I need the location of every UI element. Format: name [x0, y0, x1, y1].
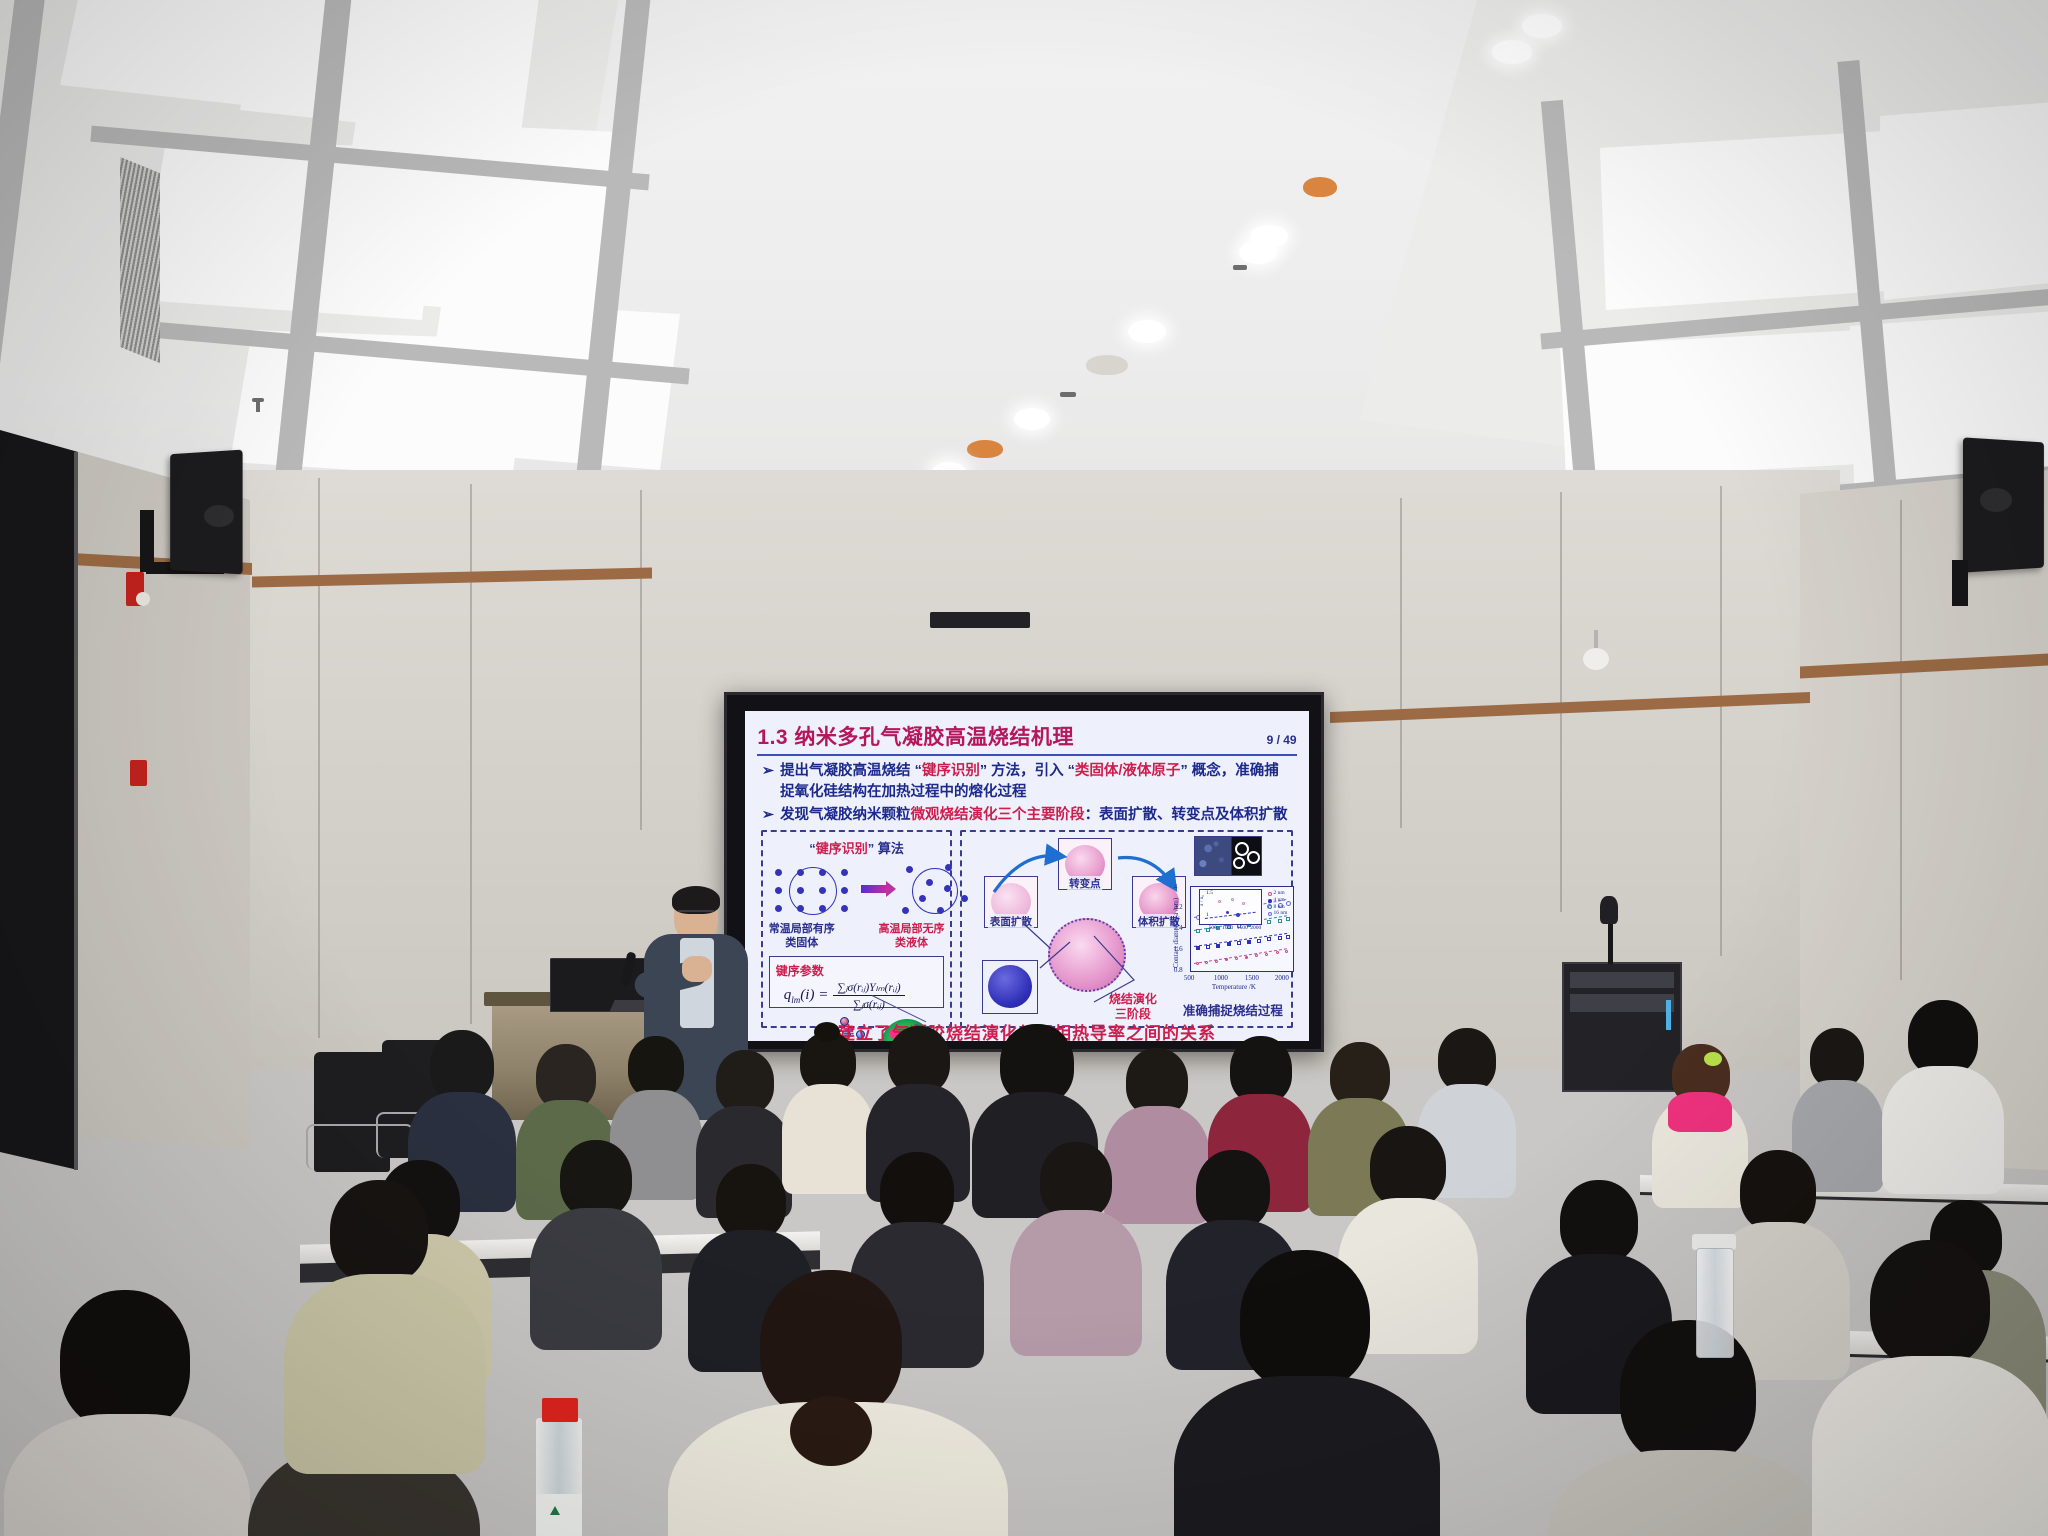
ceiling-light-panel: [420, 300, 680, 470]
inset-xtick: 1500: [1237, 925, 1248, 931]
bond-order-parameter-box: 键序参数 qlm(i) = ∑ⱼσ(rᵢⱼ)Yₗₘ(rᵢⱼ) ∑ⱼσ(rᵢⱼ): [769, 956, 945, 1008]
slide-page-indicator: 9 / 49: [1267, 733, 1297, 747]
wall-seam: [470, 484, 472, 1024]
bullet-arrow-icon: ➢: [762, 805, 774, 826]
legend-marker: [1268, 912, 1272, 916]
cube-label-surface: 表面扩散: [988, 914, 1034, 929]
presenter-hand: [682, 956, 712, 982]
presenter-glasses-icon: [678, 910, 714, 915]
rack-slot: [1570, 994, 1674, 1012]
formula-expression: qlm(i) = ∑ⱼσ(rᵢⱼ)Yₗₘ(rᵢⱼ) ∑ⱼσ(rᵢⱼ): [776, 980, 938, 1011]
bottle-label: [536, 1494, 582, 1536]
speaker-cone: [204, 505, 234, 527]
bullet-text: 提出气凝胶高温烧结 “键序识别” 方法，引入 “类固体/液体原子” 概念，准确捕…: [780, 761, 1292, 803]
projector-mount: [930, 612, 1030, 628]
lattice-captions: 常温局部有序 类固体 高温局部无序 类液体: [769, 923, 945, 951]
wall-seam: [318, 478, 320, 1038]
air-vent-grille: [120, 157, 160, 363]
caption-low-temp: 常温局部有序 类固体: [769, 923, 835, 951]
x-tick: 2000: [1275, 974, 1289, 982]
wall-seam: [640, 490, 642, 830]
speaker-mount-arm: [1952, 560, 1968, 606]
slide-figure-area: “键序识别” 算法: [761, 830, 1293, 1028]
chart-ylabel: Contact diameter (a /nm): [1172, 898, 1180, 968]
slide-title-bar: 1.3 纳米多孔气凝胶高温烧结机理 9 / 49: [757, 721, 1296, 756]
contact-diameter-chart: a / a₀ 1.5 1 500 1000 1500 2000: [1168, 884, 1300, 1004]
smoke-detector: [1086, 355, 1128, 375]
sprinkler-head: [1233, 265, 1247, 270]
initial-particle-box: [982, 960, 1038, 1014]
bullet-arrow-icon: ➢: [762, 761, 774, 803]
entrance-door[interactable]: [0, 430, 78, 1170]
recycle-triangle-icon: [550, 1506, 560, 1515]
chart-plot-area: a / a₀ 1.5 1 500 1000 1500 2000: [1190, 886, 1294, 972]
x-tick: 1500: [1245, 974, 1259, 982]
panel-title: “键序识别” 算法: [769, 838, 945, 857]
y-tick: 4: [1174, 883, 1178, 891]
sprinkler-head: [1060, 392, 1076, 397]
cube-surface-diffusion: 表面扩散: [984, 876, 1038, 928]
legend-label: 8 nm: [1274, 904, 1285, 910]
sintering-evolution-panel: 转变点 表面扩散 体积扩散: [960, 830, 1293, 1028]
security-camera-icon: [1583, 648, 1609, 670]
track-downlight: [1492, 40, 1532, 64]
rack-slot: [1570, 972, 1674, 988]
legend-label: 4 nm: [1274, 897, 1285, 903]
transform-arrow-icon: [861, 885, 887, 893]
formula-label: 键序参数: [776, 962, 938, 979]
smoke-detector: [967, 440, 1003, 458]
legend-label: 16 nm: [1274, 910, 1288, 916]
inset-xtick: 2000: [1250, 925, 1261, 931]
fire-call-point[interactable]: [130, 760, 147, 786]
inset-ytick-max: 1.5: [1206, 890, 1213, 896]
lecture-hall-scene: 1.3 纳米多孔气凝胶高温烧结机理 9 / 49 ➢ 提出气凝胶高温烧结 “键序…: [0, 0, 2048, 1536]
slide-bullets: ➢ 提出气凝胶高温烧结 “键序识别” 方法，引入 “类固体/液体原子” 概念，准…: [762, 761, 1292, 828]
inset-xtick: 1000: [1222, 925, 1233, 931]
pink-hood: [1668, 1092, 1732, 1132]
cube-label-transition: 转变点: [1067, 876, 1103, 891]
track-downlight: [1522, 14, 1562, 38]
smoke-detector: [1303, 177, 1337, 197]
sprinkler-head: [256, 402, 260, 412]
door-frame-edge: [74, 452, 78, 1170]
wall-seam: [1720, 486, 1722, 956]
cube-transition-point: 转变点: [1058, 838, 1112, 890]
chart-caption: 准确捕捉烧结过程: [1158, 1000, 1308, 1019]
hair-clip-icon: [1704, 1052, 1722, 1066]
legend-label: 2 nm: [1274, 890, 1285, 896]
sintering-particle-sphere: [1048, 918, 1126, 992]
rack-status-led: [1666, 1000, 1671, 1030]
track-downlight: [1239, 241, 1277, 264]
x-tick: 1000: [1214, 974, 1228, 982]
lattice-diagram: [769, 861, 945, 921]
bullet-text: 发现气凝胶纳米颗粒微观烧结演化三个主要阶段：表面扩散、转变点及体积扩散: [780, 805, 1288, 826]
track-downlight: [1128, 320, 1166, 343]
ceiling-light-panel: [1560, 330, 1860, 480]
microphone-head: [1600, 896, 1618, 924]
fire-alarm-lamp: [136, 592, 150, 606]
tem-micrograph: [1194, 836, 1262, 876]
inset-ylabel: a / a₀: [1199, 895, 1205, 906]
legend-marker: [1268, 892, 1272, 896]
legend-marker: [1268, 905, 1272, 909]
x-tick: 500: [1184, 974, 1195, 982]
list-item: ➢ 发现气凝胶纳米颗粒微观烧结演化三个主要阶段：表面扩散、转变点及体积扩散: [762, 805, 1292, 826]
bond-order-algorithm-panel: “键序识别” 算法: [761, 830, 953, 1028]
projection-screen: 1.3 纳米多孔气凝胶高温烧结机理 9 / 49 ➢ 提出气凝胶高温烧结 “键序…: [724, 692, 1324, 1052]
page-title: 1.3 纳米多孔气凝胶高温烧结机理: [757, 721, 1074, 751]
chart-xlabel: Temperature /K: [1212, 983, 1256, 991]
chart-inset: a / a₀ 1.5 1 500 1000 1500 2000: [1199, 889, 1262, 924]
slide-canvas: 1.3 纳米多孔气凝胶高温烧结机理 9 / 49 ➢ 提出气凝胶高温烧结 “键序…: [745, 711, 1309, 1041]
wall-seam: [1900, 500, 1902, 980]
water-tumbler[interactable]: [1696, 1248, 1734, 1358]
caption-high-temp: 高温局部无序 类液体: [878, 923, 944, 951]
ceiling-light-panel: [1880, 100, 2048, 300]
inset-xtick: 500: [1209, 925, 1217, 931]
wall-seam: [1400, 498, 1402, 828]
track-downlight: [1014, 408, 1050, 430]
formula-denominator: ∑ⱼσ(rᵢⱼ): [849, 996, 889, 1011]
formula-numerator: ∑ⱼσ(rᵢⱼ)Yₗₘ(rᵢⱼ): [833, 980, 904, 996]
list-item: ➢ 提出气凝胶高温烧结 “键序识别” 方法，引入 “类固体/液体原子” 概念，准…: [762, 761, 1292, 803]
bottle-cap: [542, 1398, 578, 1422]
speaker-cone: [1980, 488, 2012, 512]
